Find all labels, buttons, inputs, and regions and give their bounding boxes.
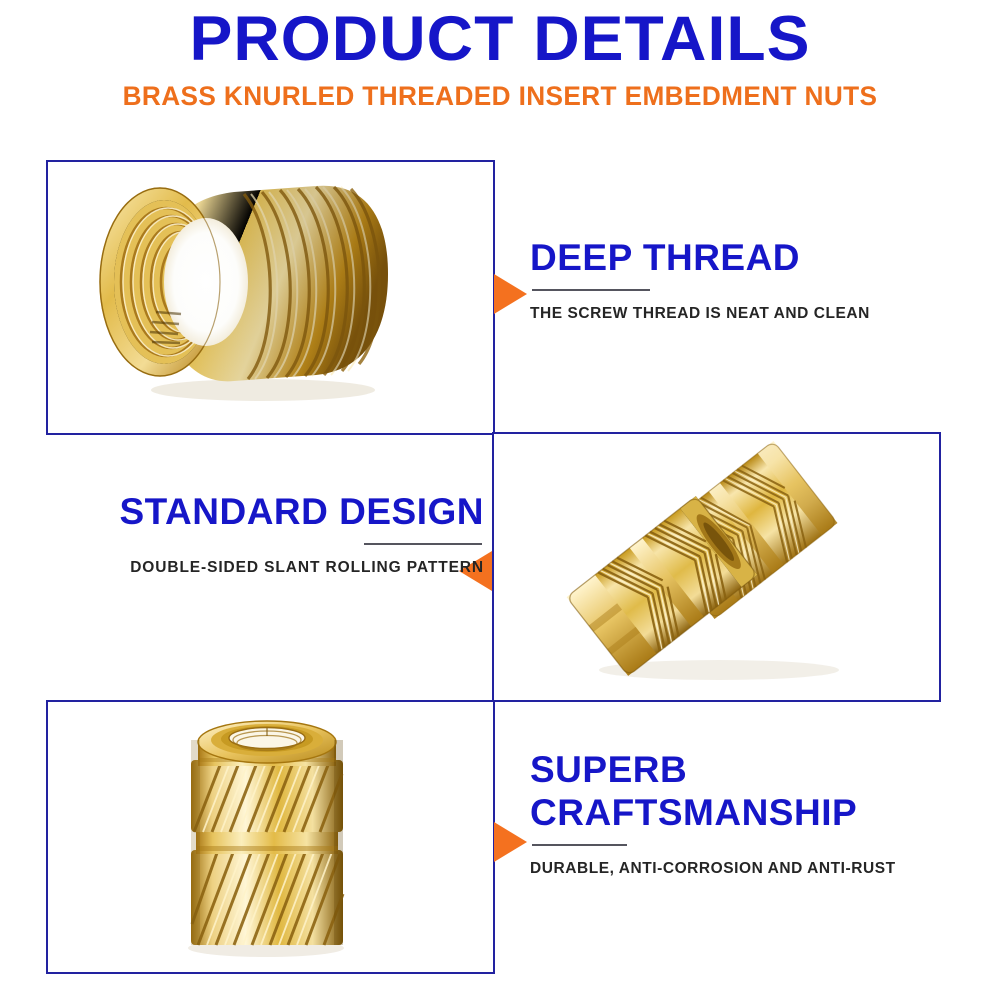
product-photo-box-standard-design xyxy=(492,432,941,702)
page-header: PRODUCT DETAILS BRASS KNURLED THREADED I… xyxy=(0,0,1000,140)
page-title: PRODUCT DETAILS xyxy=(0,4,1000,74)
product-photo-standard-design xyxy=(494,434,939,700)
product-photo-deep-thread xyxy=(48,162,493,433)
feature-heading-superb-craftsmanship: SUPERB CRAFTSMANSHIP xyxy=(530,748,960,834)
brass-insert-upright-illustration xyxy=(48,702,493,972)
product-photo-box-superb-craftsmanship xyxy=(46,700,495,974)
product-photo-superb-craftsmanship xyxy=(48,702,493,972)
feature-description-deep-thread: THE SCREW THREAD IS NEAT AND CLEAN xyxy=(530,304,960,324)
feature-heading-deep-thread: DEEP THREAD xyxy=(530,236,960,279)
feature-description-superb-craftsmanship: DURABLE, ANTI-CORROSION AND ANTI-RUST xyxy=(530,859,960,879)
brass-insert-angled-illustration xyxy=(48,162,493,433)
heading-divider-standard-design xyxy=(364,543,482,545)
feature-text-deep-thread: DEEP THREAD THE SCREW THREAD IS NEAT AND… xyxy=(530,236,960,324)
heading-divider-superb-craftsmanship xyxy=(532,844,627,846)
arrow-marker-superb-craftsmanship xyxy=(494,822,527,862)
heading-divider-deep-thread xyxy=(532,289,650,291)
feature-description-standard-design: DOUBLE-SIDED SLANT ROLLING PATTERN xyxy=(34,558,484,578)
brass-inserts-pair-illustration xyxy=(494,434,939,700)
page-subtitle: BRASS KNURLED THREADED INSERT EMBEDMENT … xyxy=(15,80,985,113)
arrow-marker-deep-thread xyxy=(494,274,527,314)
feature-heading-standard-design: STANDARD DESIGN xyxy=(34,490,484,533)
product-photo-box-deep-thread xyxy=(46,160,495,435)
feature-text-standard-design: STANDARD DESIGN DOUBLE-SIDED SLANT ROLLI… xyxy=(34,490,484,578)
feature-text-superb-craftsmanship: SUPERB CRAFTSMANSHIP DURABLE, ANTI-CORRO… xyxy=(530,748,960,879)
